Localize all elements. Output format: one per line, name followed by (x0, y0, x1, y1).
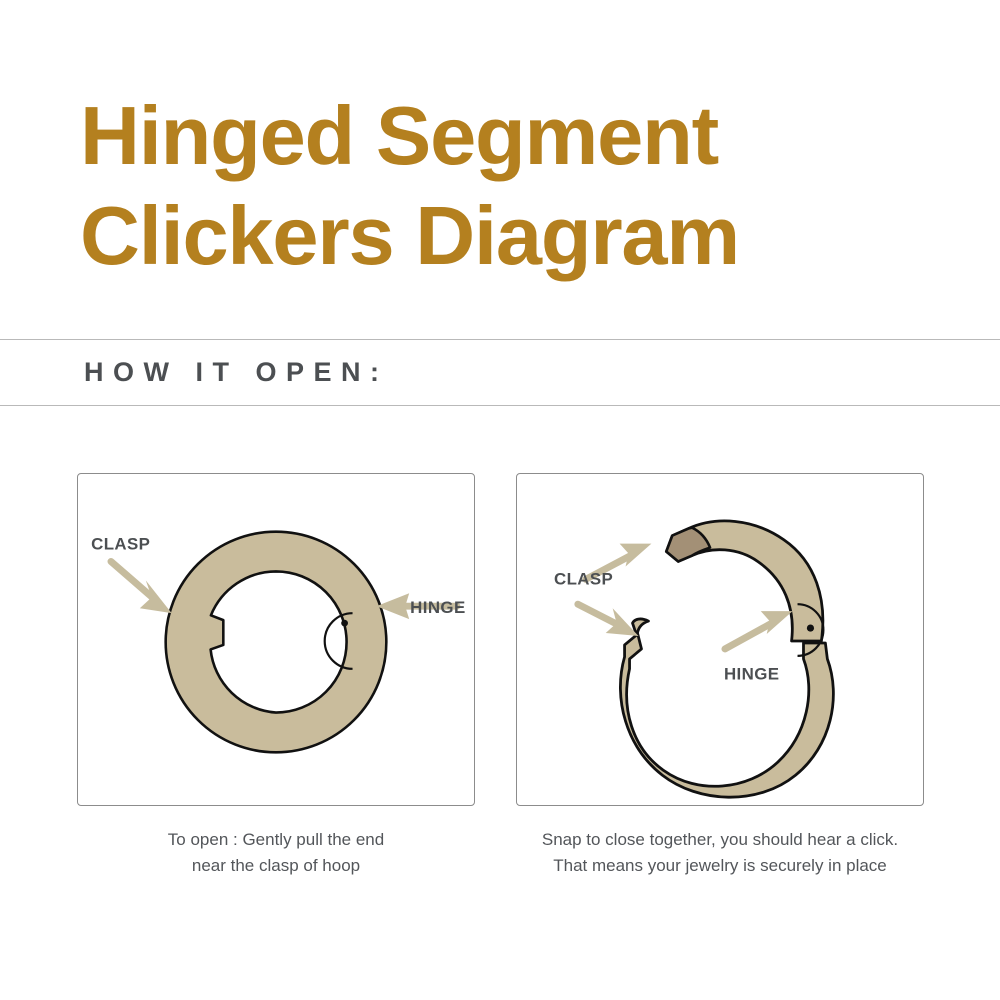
open-ring-shape (620, 521, 833, 797)
caption-line-1: Snap to close together, you should hear … (516, 827, 924, 853)
caption-line-2: That means your jewelry is securely in p… (516, 853, 924, 879)
clasp-label: CLASP (91, 535, 150, 554)
caption-open-ring: Snap to close together, you should hear … (516, 827, 924, 879)
arrow-down-right-icon (111, 561, 172, 613)
arrow-up-right-icon-hinge (725, 611, 793, 649)
ring-annulus (166, 532, 387, 753)
hinge-pin-icon (807, 624, 814, 631)
panel-open-ring: CLASP HINGE (516, 473, 924, 806)
arrow-down-right-icon-clasp-bottom (578, 604, 639, 636)
panels-container: CLASP HINGE (0, 0, 1000, 1000)
panel-closed-ring: CLASP HINGE (77, 473, 475, 806)
diagram-page: Hinged Segment Clickers Diagram HOW IT O… (0, 0, 1000, 1000)
caption-closed-ring: To open : Gently pull the end near the c… (77, 827, 475, 879)
clasp-label: CLASP (554, 569, 613, 588)
hinge-label: HINGE (410, 598, 465, 617)
caption-line-2: near the clasp of hoop (77, 853, 475, 879)
closed-ring-shape (166, 532, 387, 753)
caption-line-1: To open : Gently pull the end (77, 827, 475, 853)
hinge-label: HINGE (724, 665, 779, 684)
hinge-pin-icon (341, 620, 348, 627)
